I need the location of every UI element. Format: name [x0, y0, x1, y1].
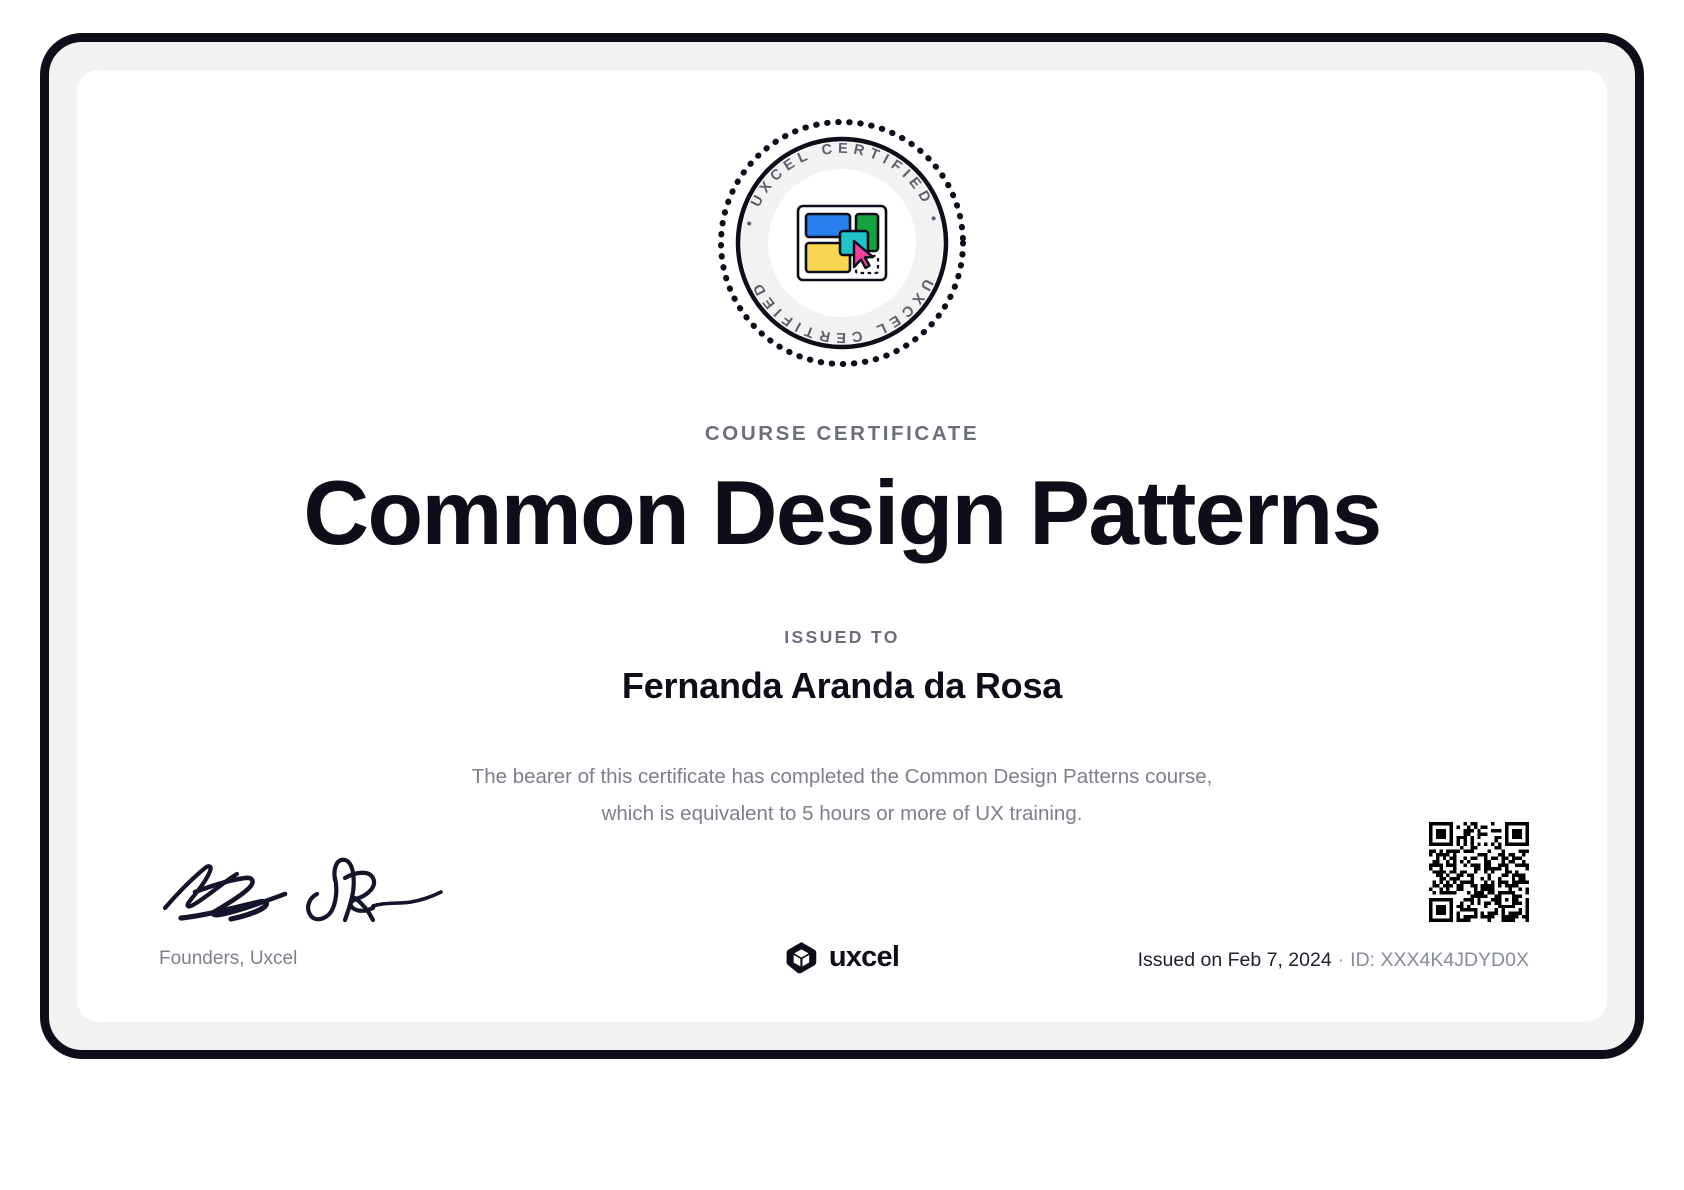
meta-separator: ·: [1338, 949, 1345, 971]
eyebrow-label: COURSE CERTIFICATE: [77, 422, 1607, 446]
issue-date: Issued on Feb 7, 2024: [1138, 949, 1332, 971]
certificate-id: ID: XXX4K4JDYD0X: [1350, 949, 1529, 971]
founders-label: Founders, Uxcel: [159, 948, 297, 970]
design-patterns-layout-icon: [798, 206, 886, 280]
uxcel-certified-seal: • UXCEL CERTIFIED • UXCEL CERTIFIED: [711, 112, 973, 374]
signature-stroke-8: [373, 892, 441, 906]
recipient-name: Fernanda Aranda da Rosa: [77, 665, 1607, 707]
page-title: Common Design Patterns: [77, 468, 1607, 559]
certificate-description: The bearer of this certificate has compl…: [462, 758, 1222, 832]
signatures: [159, 832, 459, 924]
certificate-frame: • UXCEL CERTIFIED • UXCEL CERTIFIED: [40, 33, 1644, 1059]
certificate-card: • UXCEL CERTIFIED • UXCEL CERTIFIED: [77, 70, 1607, 1022]
signature-stroke-6: [345, 873, 374, 911]
signature-stroke-4: [308, 878, 336, 919]
issued-to-label: ISSUED TO: [77, 627, 1607, 648]
uxcel-brand-lockup: uxcel: [785, 941, 899, 974]
seal-svg: • UXCEL CERTIFIED • UXCEL CERTIFIED: [711, 112, 973, 374]
uxcel-cube-icon: [785, 941, 818, 974]
qr-code[interactable]: [1429, 822, 1529, 922]
uxcel-wordmark: uxcel: [829, 941, 899, 974]
signature-svg: [159, 832, 459, 924]
qr-code-svg: [1429, 822, 1529, 922]
issue-metadata: Issued on Feb 7, 2024·ID: XXX4K4JDYD0X: [1138, 949, 1529, 972]
